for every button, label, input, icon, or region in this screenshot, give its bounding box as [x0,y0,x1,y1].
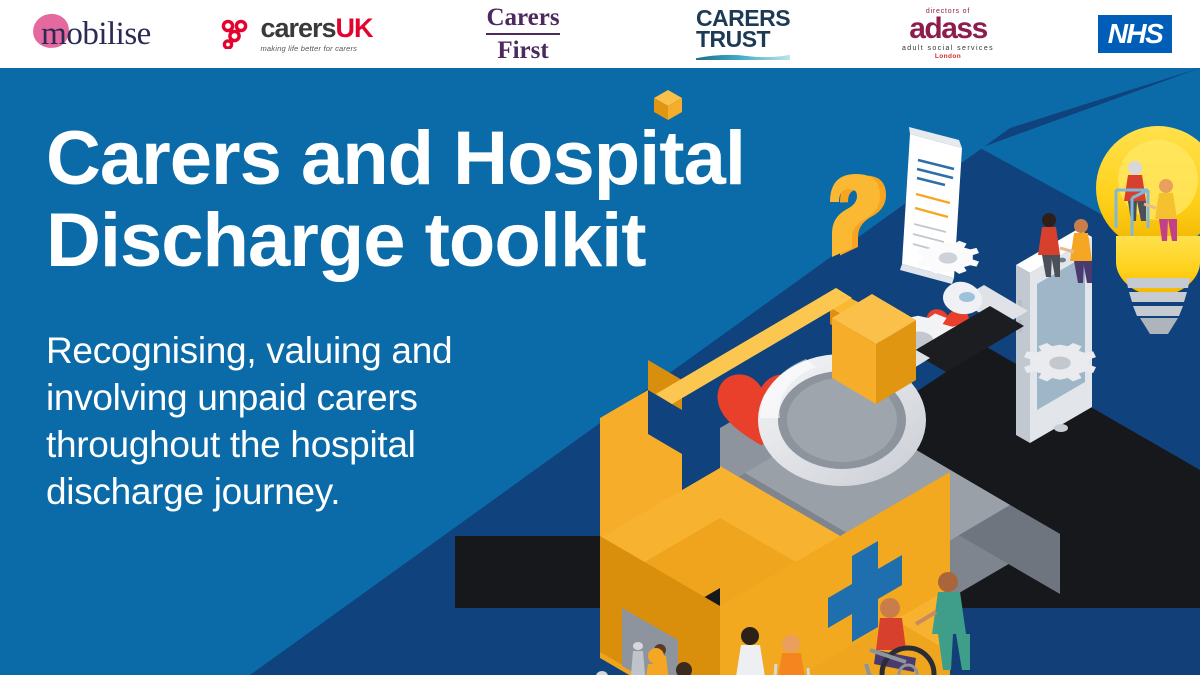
carers-first-line2: First [497,38,548,63]
carers-trust-swoosh-icon [696,53,790,60]
person-elderly-walking [593,671,611,675]
logo-carers-first[interactable]: Carers First [448,0,598,68]
logo-mobilise[interactable]: mobilise [14,0,174,68]
hero-banner: Carers and Hospital Discharge toolkit Re… [0,68,1200,675]
logo-carers-uk[interactable]: carersUK making life better for carers [212,0,382,68]
carers-first-rule [486,33,559,35]
partner-logo-strip: mobilise carersUK [0,0,1200,68]
logo-nhs[interactable]: NHS [1085,0,1185,68]
carers-uk-tagline: making life better for carers [260,45,372,53]
adass-wordmark: adass [909,14,987,44]
logo-adass-london[interactable]: directors of adass adult social services… [878,0,1018,68]
page-subtitle: Recognising, valuing and involving unpai… [46,328,816,516]
carers-first-line1: Carers [486,5,559,30]
page-title: Carers and Hospital Discharge toolkit [46,118,816,282]
mobilise-wordmark: mobilise [37,18,151,51]
logo-carers-trust[interactable]: CARERS TRUST [668,0,818,68]
poster-page: mobilise carersUK [0,0,1200,675]
adass-city: London [935,54,961,61]
nhs-wordmark: NHS [1108,20,1163,48]
carers-uk-wordmark: carers [260,13,335,43]
adass-sub-line: adult social services [902,45,994,52]
carers-trust-line2: TRUST [696,29,770,50]
carers-uk-accent: UK [336,13,373,43]
carers-uk-figures-icon [221,19,253,49]
lightbulb-icon [1096,124,1200,334]
hero-copy: Carers and Hospital Discharge toolkit Re… [46,118,816,516]
